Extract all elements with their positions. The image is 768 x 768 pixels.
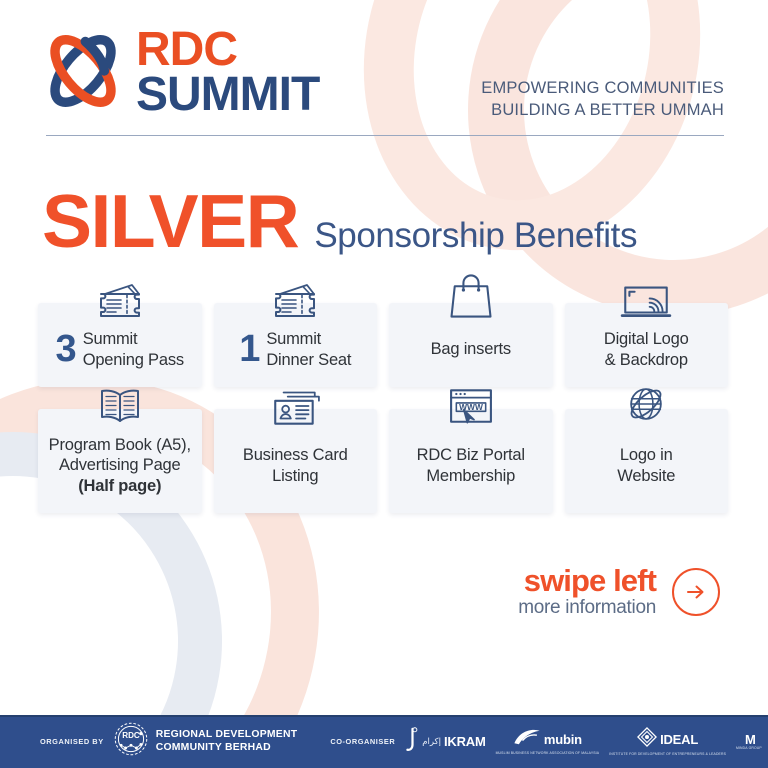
ikram-alif-icon (406, 727, 419, 757)
organiser-name-line-1: REGIONAL DEVELOPMENT (156, 729, 298, 741)
benefit-label: Program Book (A5),Advertising Page(Half … (49, 435, 191, 497)
rdc-network-badge-icon: RDC (113, 721, 149, 762)
benefit-quantity: 3 (56, 333, 76, 365)
benefit-label-line: Logo in (617, 445, 675, 466)
svg-text:RDC: RDC (122, 731, 140, 740)
benefit-card: Business CardListing (214, 409, 378, 513)
benefit-label: Bag inserts (431, 339, 511, 360)
benefit-quantity: 1 (239, 333, 259, 365)
benefit-content: Business CardListing (243, 445, 348, 487)
swipe-sub-label: more information (518, 597, 656, 619)
benefit-card: Bag inserts (389, 303, 553, 387)
ticket-icon (264, 271, 326, 321)
footer-top-edge (0, 715, 768, 717)
brand-wordmark: RDC SUMMIT (136, 28, 319, 116)
page-title: SILVER Sponsorship Benefits (42, 184, 768, 259)
partner-logo: MMINDA GROUP (736, 733, 762, 751)
swipe-left-hint[interactable]: swipe left more information (0, 565, 720, 619)
benefit-label-line: Dinner Seat (266, 350, 351, 371)
benefit-card: Program Book (A5),Advertising Page(Half … (38, 409, 202, 513)
partner-logo-row: M (742, 733, 756, 746)
open-book-icon (89, 377, 151, 427)
brand-lockup: RDC SUMMIT (40, 26, 319, 119)
poster-header: RDC SUMMIT EMPOWERING COMMUNITIES BUILDI… (0, 0, 768, 122)
benefit-card: 3SummitOpening Pass (38, 303, 202, 387)
benefit-card: 1SummitDinner Seat (214, 303, 378, 387)
benefit-label-line: Summit (83, 329, 184, 350)
benefit-label-line: Program Book (A5), (49, 435, 191, 456)
partner-name: M (745, 733, 756, 746)
benefit-label-line: Website (617, 466, 675, 487)
partner-logo-row: IDEAL (637, 727, 698, 751)
partner-logo-row: mubin (513, 728, 582, 750)
partner-logo: IDEALINSTITUTE FOR DEVELOPMENT OF ENTREP… (609, 727, 726, 756)
benefit-label: SummitOpening Pass (83, 329, 184, 371)
benefit-label: RDC Biz PortalMembership (417, 445, 525, 487)
benefit-content: RDC Biz PortalMembership (417, 445, 525, 487)
tier-name: SILVER (42, 184, 298, 259)
swipe-main-label: swipe left (518, 565, 656, 597)
shopping-bag-icon (440, 271, 502, 321)
co-organiser-label: CO-ORGANISER (330, 737, 395, 746)
benefit-label-line: Digital Logo (604, 329, 689, 350)
partner-name: IDEAL (660, 733, 698, 746)
benefit-label: Digital Logo& Backdrop (604, 329, 689, 371)
brand-name-rdc: RDC (136, 28, 319, 72)
partner-logos: إكرامIKRAMmubinMUSLIM BUSINESS NETWORK A… (406, 726, 768, 757)
ideal-diamond-icon (637, 727, 657, 751)
partner-logo-row: إكرامIKRAM (406, 727, 485, 757)
benefit-content: 1SummitDinner Seat (239, 329, 351, 371)
benefit-card: Digital Logo& Backdrop (565, 303, 729, 387)
benefit-content: Digital Logo& Backdrop (604, 329, 689, 371)
benefit-label-line: Membership (417, 466, 525, 487)
partner-tagline: INSTITUTE FOR DEVELOPMENT OF ENTREPRENEU… (609, 753, 726, 756)
benefit-label-line: Summit (266, 329, 351, 350)
benefit-label-line: & Backdrop (604, 350, 689, 371)
benefit-label: Logo inWebsite (617, 445, 675, 487)
partner-tagline: MUSLIM BUSINESS NETWORK ASSOCIATION OF M… (496, 752, 600, 755)
partner-name: mubin (544, 733, 582, 746)
screen-cast-icon (615, 271, 677, 321)
brand-tagline: EMPOWERING COMMUNITIES BUILDING A BETTER… (481, 78, 724, 122)
benefit-card: Logo inWebsite (565, 409, 729, 513)
benefit-label-line: (Half page) (49, 476, 191, 497)
partner-tagline: MINDA GROUP (736, 747, 762, 750)
mubin-swoosh-icon (513, 728, 541, 750)
partner-logo: mubinMUSLIM BUSINESS NETWORK ASSOCIATION… (496, 728, 600, 755)
poster-footer: ORGANISED BY RDC RE (0, 715, 768, 768)
benefit-content: Program Book (A5),Advertising Page(Half … (49, 435, 191, 497)
atom-orbit-logo-icon (40, 28, 126, 119)
benefit-label-line: Opening Pass (83, 350, 184, 371)
swipe-text: swipe left more information (518, 565, 656, 619)
benefit-content: 3SummitOpening Pass (56, 329, 184, 371)
browser-www-icon: WWW (440, 377, 502, 427)
benefit-label-line: RDC Biz Portal (417, 445, 525, 466)
tier-subtitle: Sponsorship Benefits (314, 218, 637, 253)
benefit-label-line: Listing (243, 466, 348, 487)
benefit-content: Bag inserts (431, 339, 511, 360)
benefits-grid: 3SummitOpening Pass1SummitDinner SeatBag… (38, 303, 728, 513)
sponsorship-benefits-poster: RDC SUMMIT EMPOWERING COMMUNITIES BUILDI… (0, 0, 768, 768)
partner-arabic-name: إكرام (422, 737, 441, 746)
organiser-name: REGIONAL DEVELOPMENT COMMUNITY BERHAD (156, 729, 298, 754)
organiser-name-line-2: COMMUNITY BERHAD (156, 742, 298, 754)
arrow-right-circle-icon[interactable] (672, 568, 720, 616)
partner-logo: إكرامIKRAM (406, 727, 485, 757)
benefit-card: WWWRDC Biz PortalMembership (389, 409, 553, 513)
organiser-lockup: RDC REGIONAL DEVELOPMENT COMMUNITY BERHA… (113, 721, 298, 762)
benefit-label: Business CardListing (243, 445, 348, 487)
benefit-content: Logo inWebsite (617, 445, 675, 487)
tagline-line-1: EMPOWERING COMMUNITIES (481, 78, 724, 100)
business-cards-icon (264, 377, 326, 427)
benefit-label-line: Advertising Page (49, 455, 191, 476)
header-divider (46, 135, 724, 136)
partner-name: IKRAM (444, 735, 486, 748)
tagline-line-2: BUILDING A BETTER UMMAH (481, 100, 724, 122)
svg-text:WWW: WWW (459, 401, 483, 411)
ticket-icon (89, 271, 151, 321)
benefit-label-line: Bag inserts (431, 339, 511, 360)
benefit-label-line: Business Card (243, 445, 348, 466)
organised-by-label: ORGANISED BY (40, 737, 104, 746)
globe-icon (615, 377, 677, 427)
benefit-label: SummitDinner Seat (266, 329, 351, 371)
brand-name-summit: SUMMIT (136, 73, 319, 117)
